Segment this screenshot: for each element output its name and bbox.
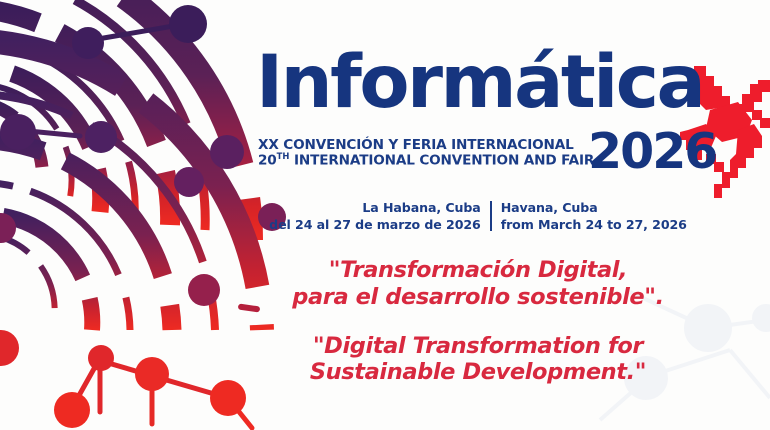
poster-canvas: Informática XX CONVENCIÓN Y FERIA INTERN… (0, 0, 770, 430)
venue-dates-spanish: del 24 al 27 de marzo de 2026 (269, 217, 481, 234)
venue-dates-english: from March 24 to 27, 2026 (501, 217, 687, 234)
edition-year: 2026 (588, 127, 716, 176)
venue-place-english: Havana, Cuba (501, 200, 687, 217)
subtitle-spanish: XX CONVENCIÓN Y FERIA INTERNACIONAL (258, 138, 594, 152)
title-block: Informática XX CONVENCIÓN Y FERIA INTERN… (248, 54, 708, 178)
slogan-spanish-line1: "Transformación Digital, (248, 257, 708, 284)
ordinal-suffix: TH (277, 151, 290, 161)
slogan-english-line2: Sustainable Development." (248, 359, 708, 386)
slogan-spanish: "Transformación Digital, para el desarro… (248, 257, 708, 310)
slogan-spanish-line2: para el desarrollo sostenible". (248, 284, 708, 311)
subtitle-english-number: 20 (258, 153, 277, 169)
venue-english: Havana, Cuba from March 24 to 27, 2026 (492, 200, 696, 233)
page-title: Informática (256, 46, 703, 119)
slogan-english-line1: "Digital Transformation for (248, 333, 708, 360)
slogan-english: "Digital Transformation for Sustainable … (248, 333, 708, 386)
subtitle-english-rest: INTERNATIONAL CONVENTION AND FAIR (289, 153, 594, 169)
venue-spanish: La Habana, Cuba del 24 al 27 de marzo de… (260, 200, 490, 233)
venue-block: La Habana, Cuba del 24 al 27 de marzo de… (248, 200, 708, 233)
convention-subtitle: XX CONVENCIÓN Y FERIA INTERNACIONAL 20TH… (258, 138, 594, 168)
poster-content: Informática XX CONVENCIÓN Y FERIA INTERN… (248, 54, 708, 386)
subtitle-english: 20TH INTERNATIONAL CONVENTION AND FAIR (258, 152, 594, 168)
venue-place-spanish: La Habana, Cuba (269, 200, 481, 217)
